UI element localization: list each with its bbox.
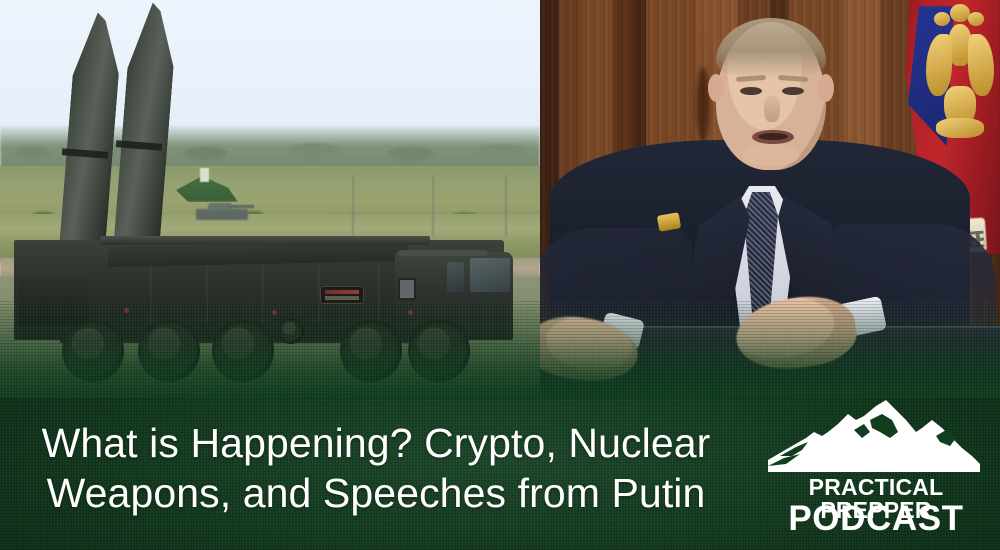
power-wire xyxy=(330,212,540,213)
chin xyxy=(738,142,804,168)
podcast-episode-thumbnail: What is Happening? Crypto, Nuclear Weapo… xyxy=(0,0,1000,550)
marker-lamp xyxy=(124,308,129,313)
episode-title-line-2: Weapons, and Speeches from Putin xyxy=(0,468,752,518)
ear-right xyxy=(818,74,834,102)
cab-side-window xyxy=(447,262,464,292)
cab-roof-strip xyxy=(398,250,488,256)
body-hatch xyxy=(398,278,416,300)
mouth-interior xyxy=(758,133,788,140)
ear-left xyxy=(708,74,724,102)
putin-address-photo xyxy=(540,0,1000,400)
episode-title-line-1: What is Happening? Crypto, Nuclear xyxy=(42,420,711,466)
wheel xyxy=(212,320,274,382)
marker-lamp xyxy=(408,310,413,315)
wheel xyxy=(408,320,470,382)
background-post xyxy=(200,168,209,182)
wheel xyxy=(340,320,402,382)
distant-tank xyxy=(196,200,254,222)
cab-window xyxy=(470,258,510,292)
logo-line-podcast: PODCAST xyxy=(752,501,1000,536)
marker-lamp xyxy=(272,310,277,315)
body-seam xyxy=(262,266,264,324)
launcher-rear-box xyxy=(18,276,88,326)
double-headed-eagle-emblem-icon xyxy=(924,0,996,150)
spare-hub xyxy=(278,318,304,344)
wheel xyxy=(62,320,124,382)
eye-left xyxy=(740,87,762,95)
utility-pole xyxy=(352,176,354,236)
podcast-logo: THE PRACTICAL PREPPER PODCAST xyxy=(752,396,1000,534)
unit-insignia-plate xyxy=(320,286,364,304)
utility-pole xyxy=(505,176,507,236)
eye-right xyxy=(782,87,804,95)
utility-pole xyxy=(432,176,434,236)
nose xyxy=(764,96,780,122)
iskander-missile-launcher-photo xyxy=(0,0,540,400)
body-seam xyxy=(150,266,152,324)
body-seam xyxy=(206,266,208,324)
launcher-top-rail xyxy=(100,236,430,245)
body-seam xyxy=(318,266,320,324)
wheel xyxy=(138,320,200,382)
body-seam xyxy=(378,266,380,324)
logo-line-the: THE xyxy=(752,452,1000,473)
episode-title: What is Happening? Crypto, Nuclear Weapo… xyxy=(0,418,752,518)
